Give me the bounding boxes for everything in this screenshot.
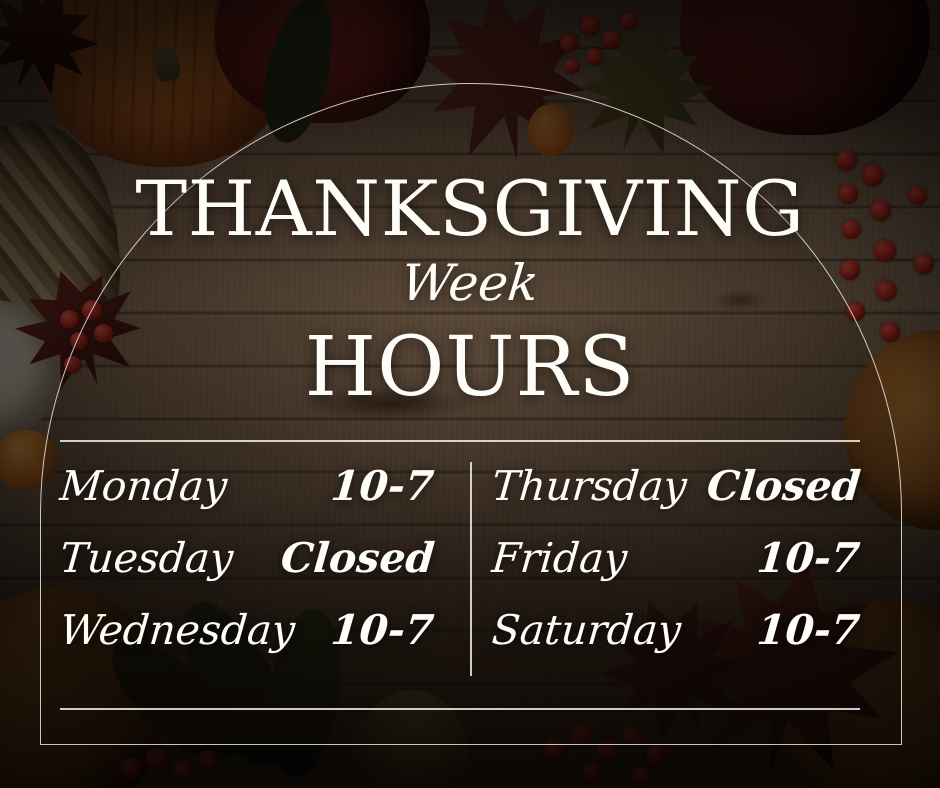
hours-value: 10-7: [330, 466, 436, 507]
divider-top: [60, 440, 860, 442]
hours-table: Monday 10-7 Tuesday Closed Wednesday 10-…: [60, 466, 860, 672]
hours-value: Closed: [705, 466, 862, 507]
thanksgiving-hours-poster: THANKSGIVING Week HOURS Monday 10-7 Tues…: [0, 0, 940, 788]
hours-row: Thursday Closed: [492, 466, 860, 528]
hours-value: Closed: [279, 538, 436, 579]
divider-bottom: [60, 708, 860, 710]
day-label: Saturday: [490, 610, 682, 651]
hours-value: 10-7: [756, 610, 862, 651]
day-label: Wednesday: [58, 610, 296, 651]
page-subtitle: HOURS: [0, 327, 940, 409]
hours-row: Monday 10-7: [60, 466, 434, 528]
title-script-word: Week: [0, 258, 940, 308]
hours-value: 10-7: [756, 538, 862, 579]
hours-value: 10-7: [330, 610, 436, 651]
day-label: Monday: [58, 466, 229, 507]
day-label: Thursday: [490, 466, 688, 507]
day-label: Tuesday: [58, 538, 235, 579]
hours-row: Wednesday 10-7: [60, 610, 434, 672]
hours-row: Tuesday Closed: [60, 538, 434, 600]
hours-column-right: Thursday Closed Friday 10-7 Saturday 10-…: [462, 466, 860, 672]
page-title: THANKSGIVING: [0, 171, 940, 247]
hours-column-left: Monday 10-7 Tuesday Closed Wednesday 10-…: [60, 466, 462, 672]
hours-row: Friday 10-7: [492, 538, 860, 600]
hours-row: Saturday 10-7: [492, 610, 860, 672]
day-label: Friday: [490, 538, 629, 579]
